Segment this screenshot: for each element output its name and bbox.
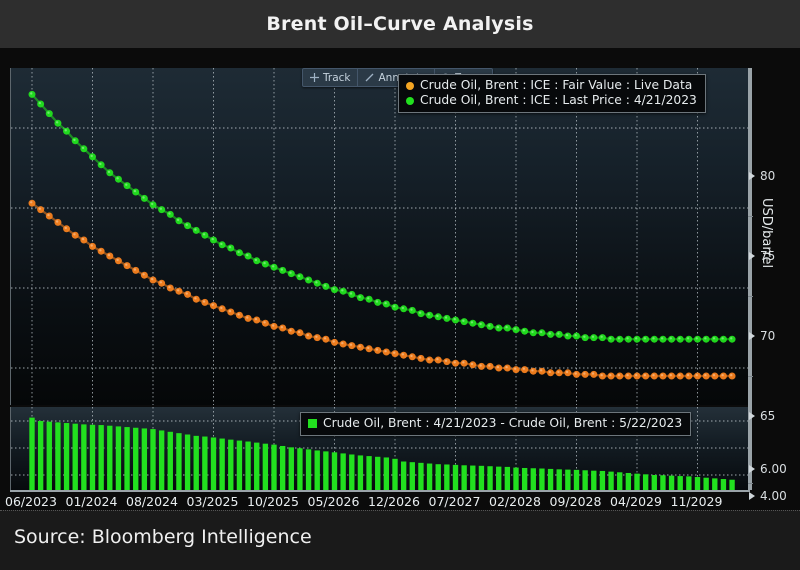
y-axis-minor-tick bbox=[748, 216, 753, 217]
y-axis-tick-mark bbox=[749, 252, 755, 260]
screenshot-root: Brent Oil–Curve Analysis 807570656.004.0… bbox=[0, 0, 800, 570]
crosshair-icon bbox=[310, 73, 319, 82]
x-axis-tick-label: 10/2025 bbox=[247, 494, 299, 509]
y-axis-minor-tick bbox=[748, 483, 753, 484]
legend-label: Crude Oil, Brent : ICE : Fair Value : Li… bbox=[420, 78, 692, 93]
track-button-label: Track bbox=[323, 72, 350, 84]
price-panel-legend[interactable]: Crude Oil, Brent : ICE : Fair Value : Li… bbox=[398, 74, 706, 113]
y-axis-tick-label: 70 bbox=[760, 329, 775, 343]
x-axis-tick-label: 01/2024 bbox=[66, 494, 118, 509]
x-axis-tick-label: 08/2024 bbox=[126, 494, 178, 509]
legend-item[interactable]: Crude Oil, Brent : ICE : Fair Value : Li… bbox=[406, 78, 697, 93]
y-axis-tick-mark bbox=[749, 412, 755, 420]
legend-marker-spread bbox=[308, 419, 317, 428]
x-axis-tick-label: 04/2029 bbox=[610, 494, 662, 509]
y-axis-tick-label: 65 bbox=[760, 409, 775, 423]
y-axis-minor-tick bbox=[748, 376, 753, 377]
page-title: Brent Oil–Curve Analysis bbox=[266, 13, 533, 35]
legend-label: Crude Oil, Brent : 4/21/2023 - Crude Oil… bbox=[323, 416, 682, 431]
x-axis-tick-label: 05/2026 bbox=[308, 494, 360, 509]
x-axis-tick-label: 11/2029 bbox=[671, 494, 723, 509]
pencil-icon bbox=[365, 73, 374, 82]
price-panel-series bbox=[11, 68, 748, 405]
legend-marker-last-price bbox=[406, 97, 414, 105]
y-axis-tick-mark bbox=[749, 332, 755, 340]
y-axis-title: USD/barrel bbox=[759, 198, 774, 268]
x-axis-tick-label: 03/2025 bbox=[187, 494, 239, 509]
y-axis-tick-label: 80 bbox=[760, 169, 775, 183]
legend-item[interactable]: Crude Oil, Brent : ICE : Last Price : 4/… bbox=[406, 93, 697, 108]
x-axis-tick-label: 06/2023 bbox=[5, 494, 57, 509]
x-axis-tick-label: 02/2028 bbox=[489, 494, 541, 509]
legend-item[interactable]: Crude Oil, Brent : 4/21/2023 - Crude Oil… bbox=[308, 416, 682, 431]
x-axis-spine bbox=[10, 490, 750, 492]
y-axis-tick-label: 6.00 bbox=[760, 462, 787, 476]
x-axis-tick-label: 07/2027 bbox=[429, 494, 481, 509]
x-axis-tick-label: 09/2028 bbox=[550, 494, 602, 509]
chart-body: 807570656.004.002.00 USD/barrel 06/20230… bbox=[0, 48, 800, 510]
x-axis-tick-label: 12/2026 bbox=[368, 494, 420, 509]
track-button[interactable]: Track bbox=[303, 69, 358, 86]
source-note: Source: Bloomberg Intelligence bbox=[14, 526, 312, 548]
chart-footer: Source: Bloomberg Intelligence bbox=[0, 510, 800, 570]
y-axis-spine bbox=[748, 68, 752, 490]
price-curve-panel[interactable] bbox=[10, 68, 748, 405]
spread-panel-legend[interactable]: Crude Oil, Brent : 4/21/2023 - Crude Oil… bbox=[300, 412, 691, 436]
legend-label: Crude Oil, Brent : ICE : Last Price : 4/… bbox=[420, 93, 697, 108]
legend-marker-fair-value bbox=[406, 82, 414, 90]
y-axis-tick-mark bbox=[749, 172, 755, 180]
x-axis-labels: 06/202301/202408/202403/202510/202505/20… bbox=[0, 494, 800, 510]
y-axis-minor-tick bbox=[748, 296, 753, 297]
y-axis-tick-mark bbox=[749, 465, 755, 473]
chart-header: Brent Oil–Curve Analysis bbox=[0, 0, 800, 48]
